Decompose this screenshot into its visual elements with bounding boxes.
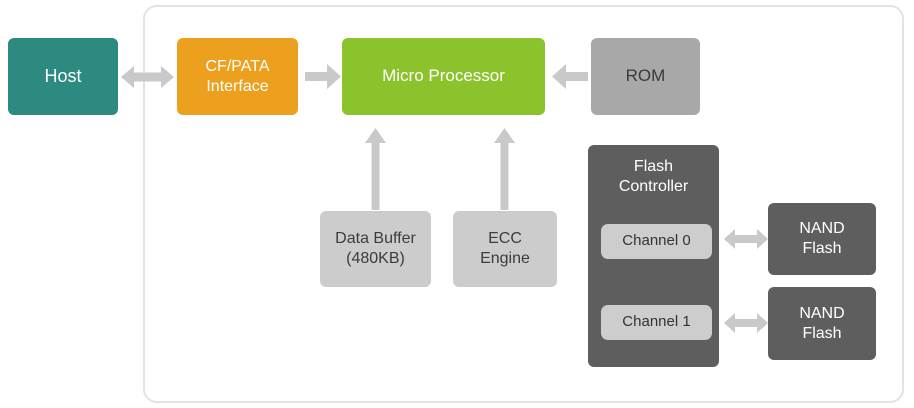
block-channel-1-label: Channel 1 [622,313,690,331]
bidirectional-arrow-channel0-nand0 [724,226,768,252]
block-cf-pata-interface[interactable]: CF/PATA Interface [177,38,298,115]
up-arrow-ecc-engine-processor [494,128,515,210]
block-cf-pata-interface-label: CF/PATA Interface [206,57,270,96]
block-data-buffer-label: Data Buffer (480KB) [335,229,416,268]
block-micro-processor[interactable]: Micro Processor [342,38,545,115]
block-nand-flash-0[interactable]: NAND Flash [768,203,876,275]
block-nand-flash-1-label: NAND Flash [799,304,844,343]
right-arrow-interface-processor [305,64,341,89]
up-arrow-data-buffer-processor [365,128,386,210]
bidirectional-arrow-channel1-nand1 [724,310,768,336]
block-ecc-engine[interactable]: ECC Engine [453,211,557,287]
block-ecc-engine-label: ECC Engine [480,229,530,268]
block-diagram-canvas: Host CF/PATA Interface Micro Processor R… [0,0,914,408]
block-rom-label: ROM [626,66,666,87]
block-channel-0-label: Channel 0 [622,232,690,250]
block-host[interactable]: Host [8,38,118,115]
bidirectional-arrow-host-interface [121,63,174,91]
block-data-buffer[interactable]: Data Buffer (480KB) [320,211,431,287]
block-micro-processor-label: Micro Processor [382,66,505,87]
block-rom[interactable]: ROM [591,38,700,115]
block-host-label: Host [44,66,81,88]
left-arrow-rom-processor [552,64,588,89]
block-nand-flash-1[interactable]: NAND Flash [768,287,876,360]
block-nand-flash-0-label: NAND Flash [799,219,844,258]
block-flash-controller-label: Flash Controller [619,157,688,196]
block-channel-1[interactable]: Channel 1 [601,305,712,340]
block-channel-0[interactable]: Channel 0 [601,224,712,259]
